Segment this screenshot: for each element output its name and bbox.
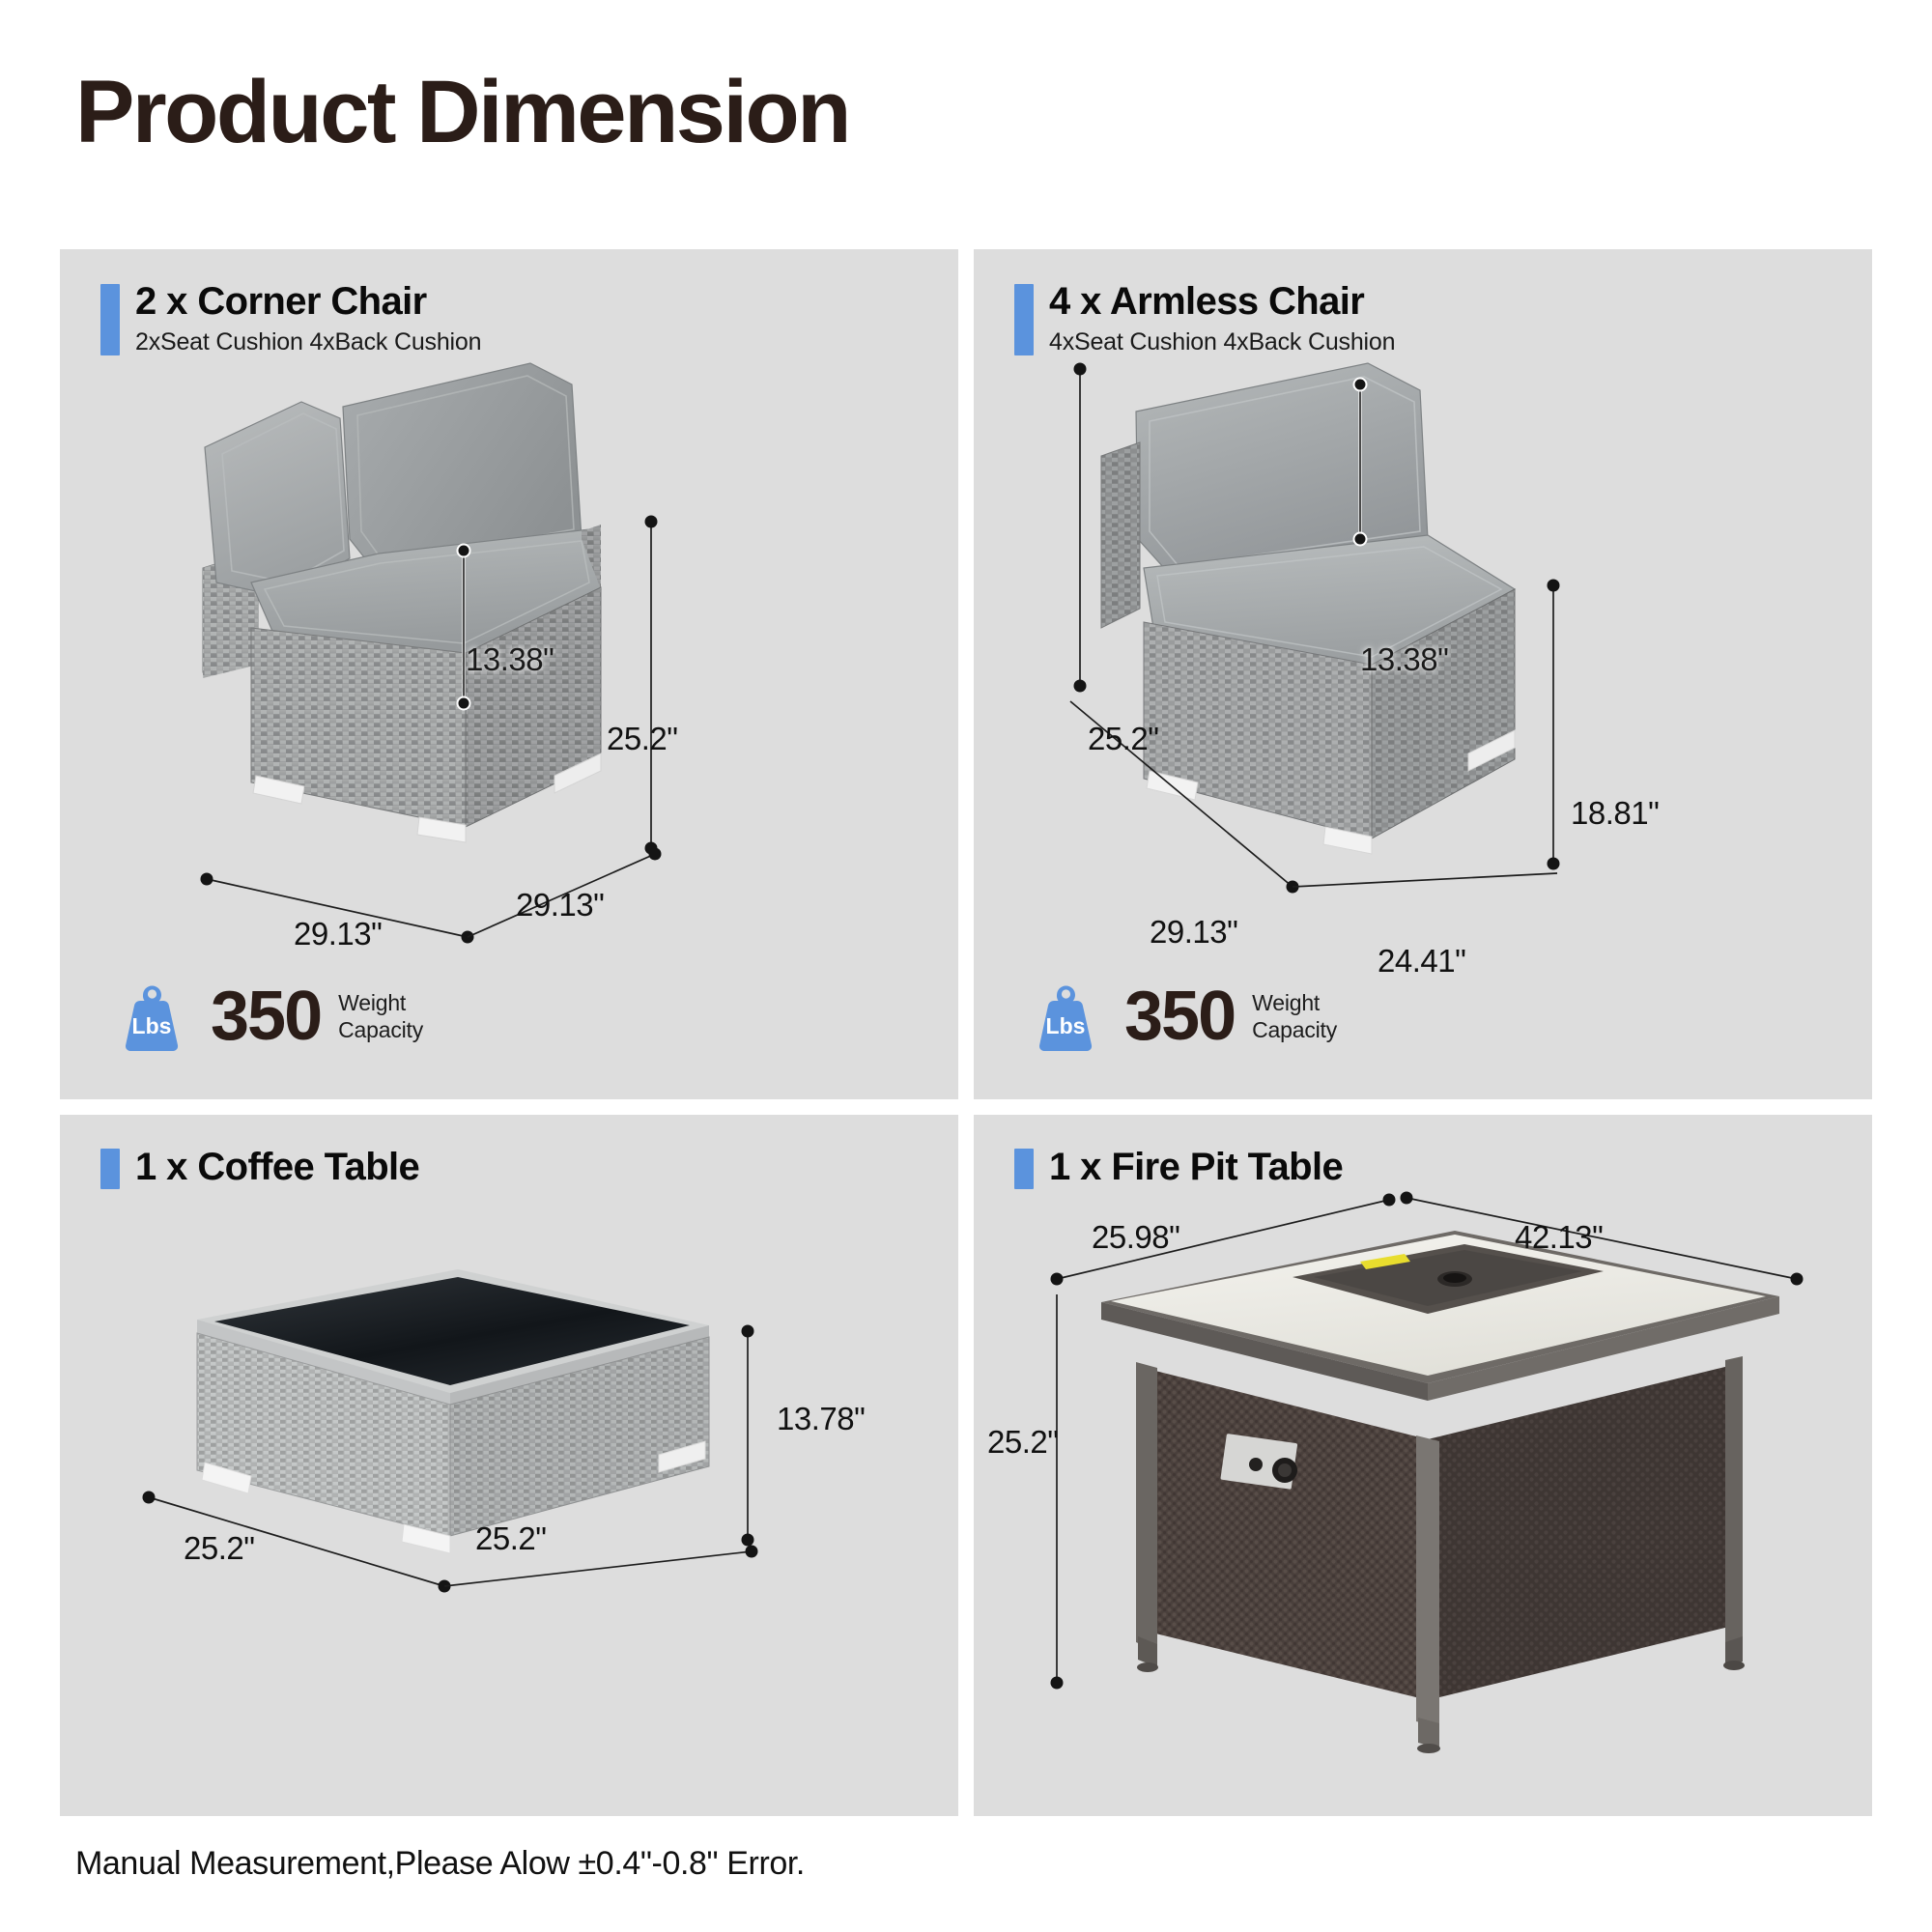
dimension-label-width-left: 29.13" <box>294 916 382 952</box>
dimension-label-depth-right: 25.2" <box>475 1520 546 1557</box>
dimension-label-overall-height: 25.2" <box>1088 721 1158 757</box>
dimension-label-back-cushion-height: 13.38" <box>466 641 554 678</box>
weight-capacity-badge: Lbs 350 Weight Capacity <box>1024 980 1337 1053</box>
dimension-label-depth: 25.98" <box>1092 1219 1179 1256</box>
weight-capacity-value: 350 <box>1124 981 1235 1051</box>
dimension-label-back-cushion-height: 13.38" <box>1360 641 1448 678</box>
weight-caption-line2: Capacity <box>1252 1016 1337 1043</box>
weight-caption-line1: Weight <box>1252 989 1337 1016</box>
weight-caption-line2: Capacity <box>338 1016 423 1043</box>
dimension-label-height: 13.78" <box>777 1401 865 1437</box>
dimension-label-depth-left: 29.13" <box>1150 914 1237 951</box>
weight-capacity-value: 350 <box>211 981 321 1051</box>
weight-icon-text: Lbs <box>1046 1013 1086 1038</box>
panel-fire-pit-table: 1 x Fire Pit Table <box>974 1115 1872 1816</box>
weight-capacity-badge: Lbs 350 Weight Capacity <box>110 980 423 1053</box>
page-title: Product Dimension <box>75 66 849 159</box>
product-dimension-infographic: Product Dimension 2 x Corner Chair 2xSea… <box>0 0 1932 1932</box>
dimension-label-overall-height: 25.2" <box>607 721 677 757</box>
dimension-label-seat-height: 18.81" <box>1571 795 1659 832</box>
dimension-label-width-left: 25.2" <box>184 1530 254 1567</box>
panel-armless-chair: 4 x Armless Chair 4xSeat Cushion 4xBack … <box>974 249 1872 1099</box>
dimension-label-width: 42.13" <box>1515 1219 1603 1256</box>
weight-lbs-icon: Lbs <box>1024 980 1107 1053</box>
panel-coffee-table: 1 x Coffee Table <box>60 1115 958 1816</box>
weight-caption-line1: Weight <box>338 989 423 1016</box>
dimension-label-width-front: 24.41" <box>1378 943 1465 980</box>
panel-corner-chair: 2 x Corner Chair 2xSeat Cushion 4xBack C… <box>60 249 958 1099</box>
dimension-label-height: 25.2" <box>987 1424 1058 1461</box>
weight-lbs-icon: Lbs <box>110 980 193 1053</box>
weight-icon-text: Lbs <box>132 1013 172 1038</box>
footer-disclaimer: Manual Measurement,Please Alow ±0.4"-0.8… <box>75 1845 805 1883</box>
panels-grid: 2 x Corner Chair 2xSeat Cushion 4xBack C… <box>60 249 1872 1816</box>
dimension-label-depth-right: 29.13" <box>516 887 604 923</box>
coffee-table-illustration <box>60 1115 958 1816</box>
